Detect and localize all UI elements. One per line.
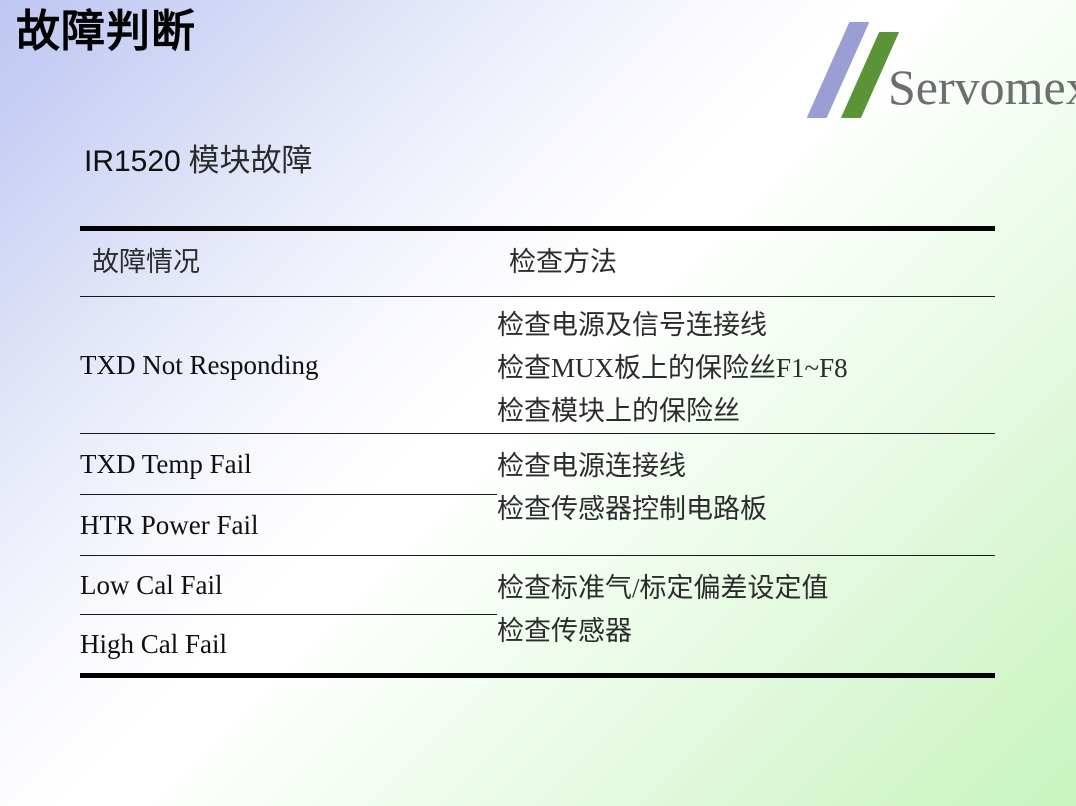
subtitle-text-cn: 模块故障 (189, 143, 313, 178)
method-cell-temp-power-fail: 检查电源连接线 检查传感器控制电路板 (497, 434, 995, 556)
fault-name-txd-temp-fail: TXD Temp Fail (80, 434, 497, 495)
method-line: 检查电源及信号连接线 (497, 301, 995, 344)
fault-name-htr-power-fail: HTR Power Fail (80, 495, 497, 556)
slide: 故障判断 Servomex IR1520 模块故障 故障情况 检查方法 (0, 0, 1076, 806)
method-line: 检查标准气/标定偏差设定值 (497, 564, 995, 607)
table-row: TXD Temp Fail 检查电源连接线 检查传感器控制电路板 (80, 434, 995, 495)
table-row: Low Cal Fail 检查标准气/标定偏差设定值 检查传感器 (80, 556, 995, 615)
table-header-row: 故障情况 检查方法 (80, 231, 995, 297)
method-line: 检查传感器 (497, 607, 995, 650)
method-line: 检查电源连接线 (497, 442, 995, 485)
rule-bottom (80, 673, 995, 678)
logo-wordmark: Servomex (888, 62, 1076, 112)
fault-name-high-cal-fail: High Cal Fail (80, 615, 497, 674)
method-cell-txd-not-responding: 检查电源及信号连接线 检查MUX板上的保险丝F1~F8 检查模块上的保险丝 (497, 297, 995, 434)
subtitle-model: IR1520 (84, 145, 181, 178)
column-header-method: 检查方法 (497, 231, 995, 297)
section-subtitle: IR1520 模块故障 (84, 142, 313, 181)
table-bottom-rule (80, 673, 995, 678)
fault-name-low-cal-fail: Low Cal Fail (80, 556, 497, 615)
method-line: 检查传感器控制电路板 (497, 485, 995, 528)
fault-diagnosis-table: 故障情况 检查方法 TXD Not Responding 检查电源及信号连接线 … (80, 226, 995, 678)
method-line: 检查模块上的保险丝 (497, 387, 995, 430)
method-cell-cal-fail: 检查标准气/标定偏差设定值 检查传感器 (497, 556, 995, 674)
column-header-fault: 故障情况 (80, 231, 497, 297)
table-row: TXD Not Responding 检查电源及信号连接线 检查MUX板上的保险… (80, 297, 995, 434)
servomex-logo: Servomex (804, 14, 1072, 124)
page-title: 故障判断 (16, 8, 196, 56)
fault-name-txd-not-responding: TXD Not Responding (80, 297, 497, 434)
method-line: 检查MUX板上的保险丝F1~F8 (497, 344, 995, 387)
